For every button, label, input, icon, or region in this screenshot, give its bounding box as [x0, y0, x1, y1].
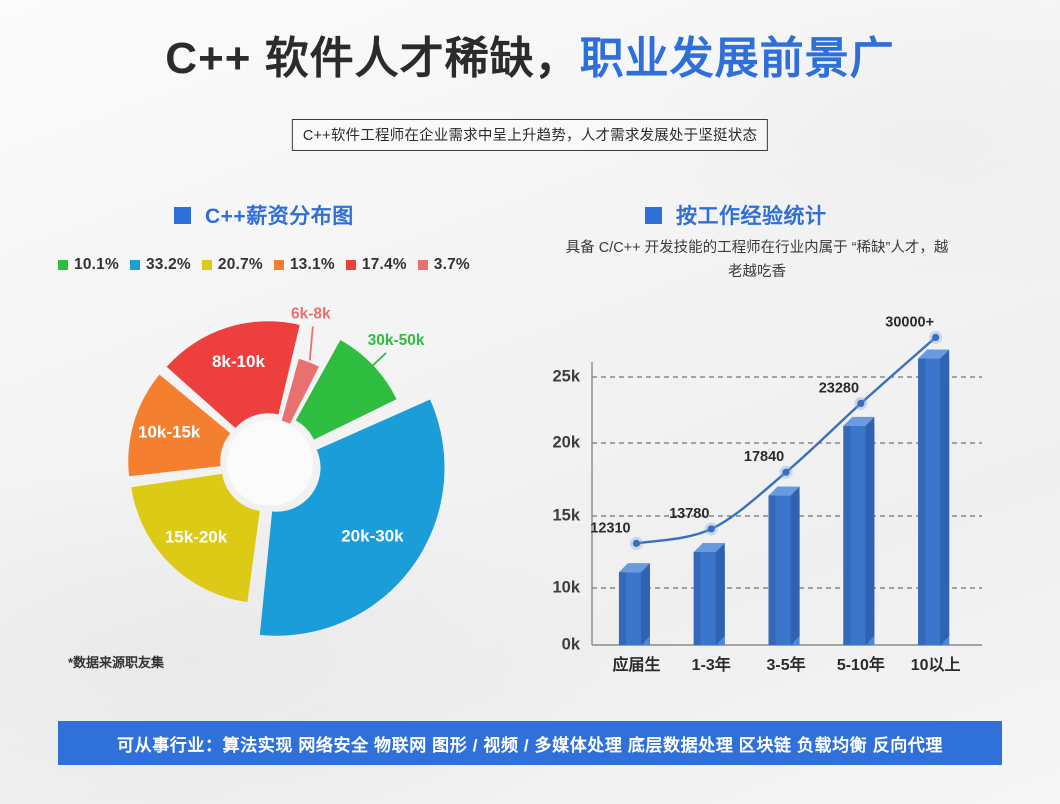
pie-legend-item: 13.1% — [274, 256, 335, 274]
pie-callout-leader-line — [310, 326, 313, 360]
bar-side-face — [716, 543, 725, 645]
legend-percent-label: 3.7% — [434, 256, 470, 274]
pie-slice-label: 20k-30k — [341, 527, 404, 546]
y-axis-tick-label: 0k — [562, 635, 581, 653]
bar-side-face — [940, 350, 949, 645]
legend-percent-label: 20.7% — [218, 256, 263, 274]
bar-left-face — [918, 359, 925, 645]
industries-footer-text: 可从事行业：算法实现 网络安全 物联网 图形 / 视频 / 多媒体处理 底层数据… — [117, 731, 943, 756]
legend-color-chip — [418, 260, 428, 270]
pie-legend-item: 3.7% — [418, 256, 470, 274]
data-point-label: 12310 — [590, 520, 630, 536]
x-axis-category-label: 5-10年 — [837, 655, 885, 674]
bar-column — [918, 350, 949, 645]
bar-column — [769, 487, 800, 645]
data-point-marker — [633, 540, 640, 547]
x-axis-category-label: 10以上 — [911, 656, 961, 674]
x-axis-category-label: 3-5年 — [766, 655, 805, 674]
legend-color-chip — [58, 260, 68, 270]
legend-percent-label: 10.1% — [74, 256, 119, 274]
data-point-marker — [932, 334, 939, 341]
y-axis-tick-label: 25k — [552, 367, 580, 385]
bar-left-face — [769, 496, 776, 645]
x-axis-category-label: 应届生 — [612, 655, 660, 674]
pie-callout-label: 6k-8k — [291, 305, 331, 322]
bar-side-face — [865, 417, 874, 645]
blue-square-icon — [645, 207, 662, 224]
subtitle-box: C++软件工程师在企业需求中呈上升趋势，人才需求发展处于坚挺状态 — [292, 119, 768, 151]
page-title-blue-part: 职业发展前景广 — [580, 34, 895, 83]
bar-svg: 0k10k15k20k25k1231013780178402328030000+… — [530, 310, 1000, 690]
legend-color-chip — [202, 260, 212, 270]
experience-description: 具备 C/C++ 开发技能的工程师在行业内属于 “稀缺”人才，越老越吃香 — [562, 237, 952, 285]
section-heading-experience: 按工作经验统计 — [645, 200, 827, 230]
donut-center-hole — [227, 420, 313, 506]
pie-legend-item: 20.7% — [202, 256, 263, 274]
x-axis-category-label: 1-3年 — [692, 655, 731, 674]
pie-slice-label: 15k-20k — [165, 527, 228, 546]
pie-legend-item: 17.4% — [346, 256, 407, 274]
pie-legend: 10.1%33.2%20.7%13.1%17.4%3.7% — [58, 256, 470, 274]
experience-salary-bar-chart: 0k10k15k20k25k1231013780178402328030000+… — [530, 310, 1000, 690]
page-title-dark-part: C++ 软件人才稀缺， — [165, 34, 579, 83]
industries-footer-banner: 可从事行业：算法实现 网络安全 物联网 图形 / 视频 / 多媒体处理 底层数据… — [58, 721, 1002, 765]
legend-percent-label: 33.2% — [146, 256, 191, 274]
legend-color-chip — [130, 260, 140, 270]
pie-callout-leader-line — [370, 353, 386, 368]
bar-left-face — [843, 426, 850, 645]
section-heading-experience-label: 按工作经验统计 — [676, 200, 827, 230]
bar-left-face — [619, 572, 626, 645]
data-point-marker — [708, 525, 715, 532]
data-point-marker — [782, 469, 789, 476]
legend-color-chip — [274, 260, 284, 270]
bar-side-face — [641, 563, 650, 645]
bar-column — [694, 543, 725, 645]
legend-percent-label: 17.4% — [362, 256, 407, 274]
pie-slice-label: 10k-15k — [138, 422, 201, 441]
data-point-label: 23280 — [819, 380, 859, 396]
blue-square-icon — [174, 207, 191, 224]
y-axis-tick-label: 20k — [552, 433, 580, 451]
bar-left-face — [694, 552, 701, 645]
data-point-label: 30000+ — [885, 314, 934, 330]
page-title: C++ 软件人才稀缺，职业发展前景广 — [0, 34, 1060, 85]
salary-distribution-pie-chart: 20k-30k15k-20k10k-15k8k-10k30k-50k6k-8k — [90, 295, 450, 655]
source-note: *数据来源职友集 — [68, 652, 164, 671]
pie-slice-label: 8k-10k — [212, 352, 265, 371]
legend-color-chip — [346, 260, 356, 270]
pie-legend-item: 33.2% — [130, 256, 191, 274]
data-point-label: 13780 — [669, 506, 709, 522]
bar-column — [843, 417, 874, 645]
pie-callout-label: 30k-50k — [368, 332, 425, 349]
bar-side-face — [791, 487, 800, 645]
pie-svg: 20k-30k15k-20k10k-15k8k-10k30k-50k6k-8k — [90, 295, 450, 655]
bar-column — [619, 563, 650, 645]
pie-legend-item: 10.1% — [58, 256, 119, 274]
section-heading-salary-label: C++薪资分布图 — [205, 200, 354, 230]
y-axis-tick-label: 10k — [552, 578, 580, 596]
subtitle-text: C++软件工程师在企业需求中呈上升趋势，人才需求发展处于坚挺状态 — [303, 128, 757, 144]
section-heading-salary: C++薪资分布图 — [174, 200, 354, 230]
data-point-marker — [857, 400, 864, 407]
y-axis-tick-label: 15k — [552, 506, 580, 524]
data-point-label: 17840 — [744, 449, 784, 465]
legend-percent-label: 13.1% — [290, 256, 335, 274]
